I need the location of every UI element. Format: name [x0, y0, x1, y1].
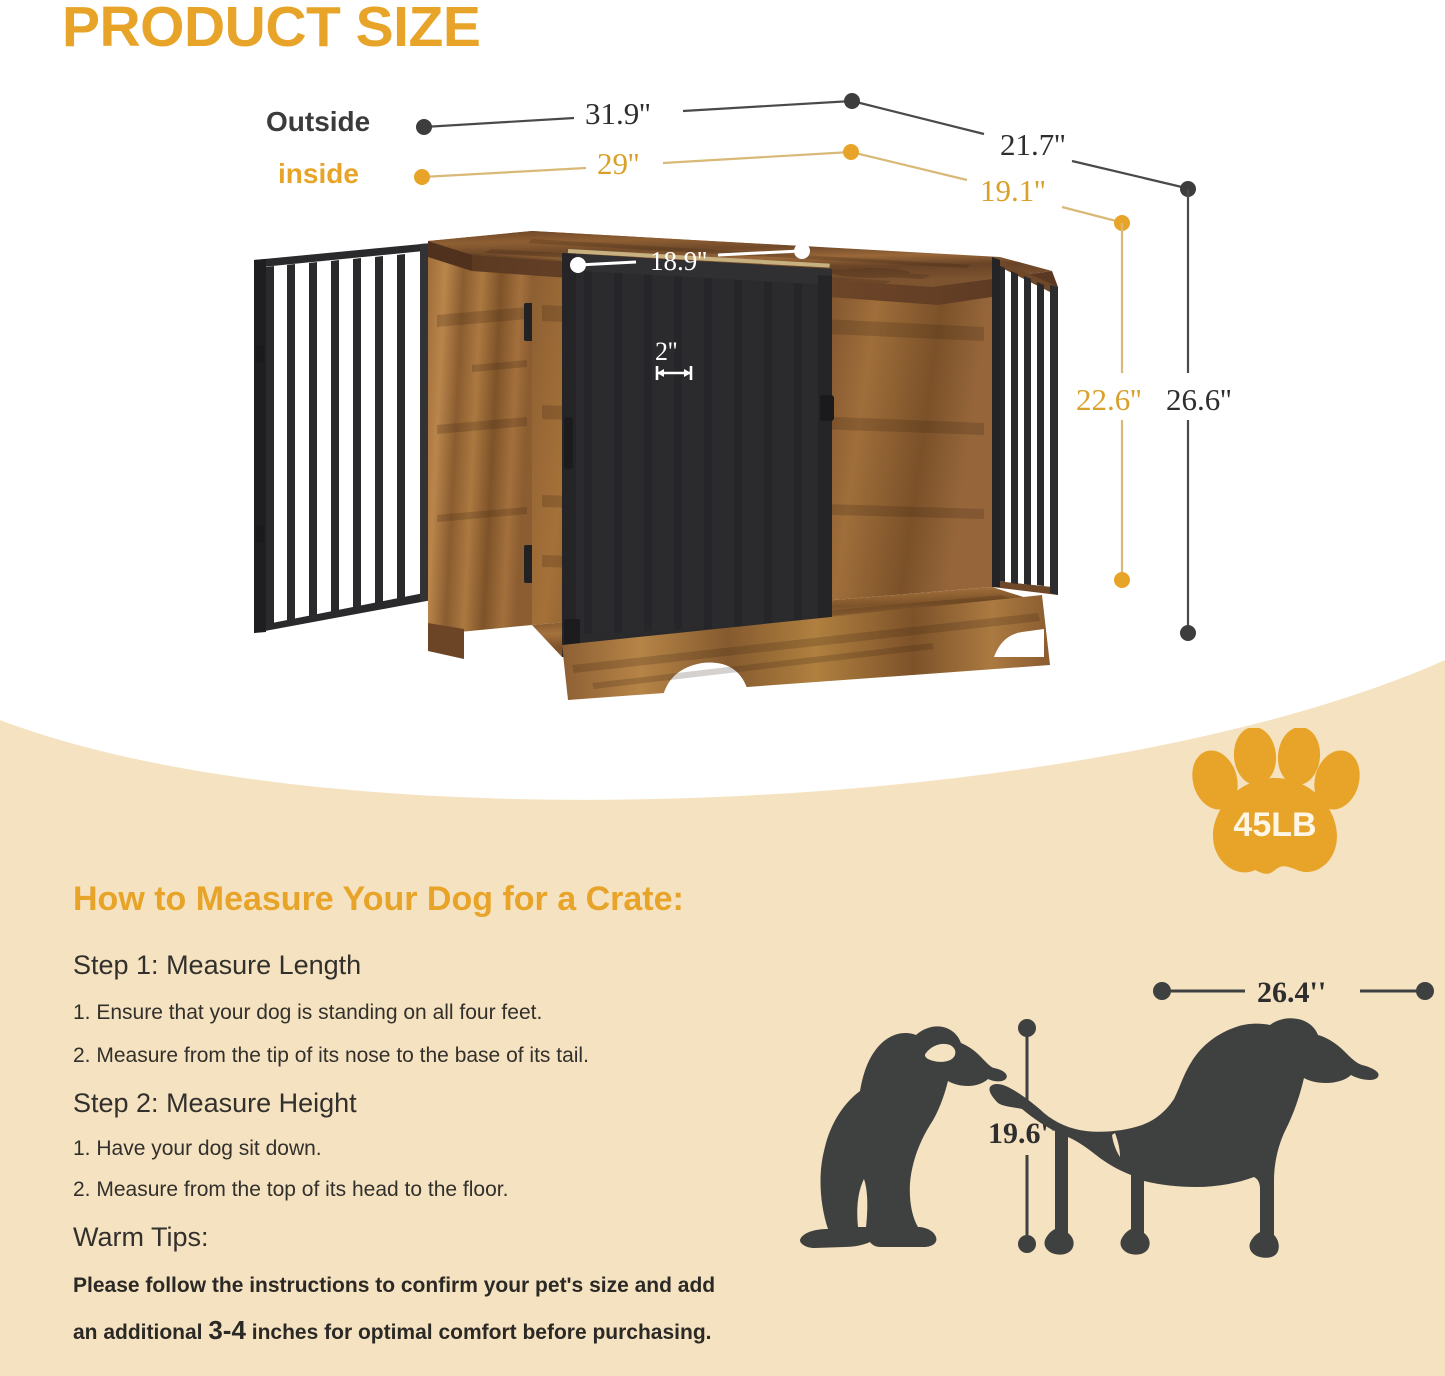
- dog-sitting-silhouette-icon: [800, 1026, 1007, 1248]
- legend-inside-label: inside: [278, 158, 359, 190]
- warm-tips-line2-post: inches for optimal comfort before purcha…: [246, 1321, 712, 1344]
- dimension-dog-height: 19.6'': [988, 1019, 1057, 1253]
- step2-line2: 2. Measure from the top of its head to t…: [73, 1178, 508, 1202]
- step2-heading: Step 2: Measure Height: [73, 1088, 357, 1119]
- front-door-frame: [562, 253, 832, 657]
- step2-line1: 1. Have your dog sit down.: [73, 1137, 322, 1161]
- step1-line2: 2. Measure from the tip of its nose to t…: [73, 1044, 589, 1068]
- warm-tips-line1: Please follow the instructions to confir…: [73, 1274, 715, 1298]
- door-latch[interactable]: [820, 395, 834, 421]
- howto-heading: How to Measure Your Dog for a Crate:: [73, 880, 684, 919]
- warm-tips-heading: Warm Tips:: [73, 1222, 209, 1253]
- door-handle[interactable]: [564, 417, 573, 469]
- dimension-dog-length: 26.4'': [1153, 976, 1434, 1009]
- page-title: PRODUCT SIZE: [62, 0, 480, 60]
- dog-crate-furniture-illustration: [232, 195, 1072, 700]
- weight-badge-label: 45LB: [1185, 806, 1365, 845]
- warm-tips-line2-pre: an additional: [73, 1321, 208, 1344]
- warm-tips-emphasis: 3-4: [208, 1315, 246, 1345]
- crate-rear-foot: [428, 623, 464, 659]
- step1-line1: 1. Ensure that your dog is standing on a…: [73, 1001, 542, 1025]
- warm-tips-line2: an additional 3-4 inches for optimal com…: [73, 1315, 711, 1346]
- step1-heading: Step 1: Measure Length: [73, 950, 361, 981]
- legend-outside-label: Outside: [266, 106, 370, 138]
- dog-measurement-diagram: 19.6'' 26.4'': [760, 955, 1440, 1305]
- label-dog-length: 26.4'': [1257, 976, 1326, 1009]
- left-side-door-open: [254, 243, 432, 633]
